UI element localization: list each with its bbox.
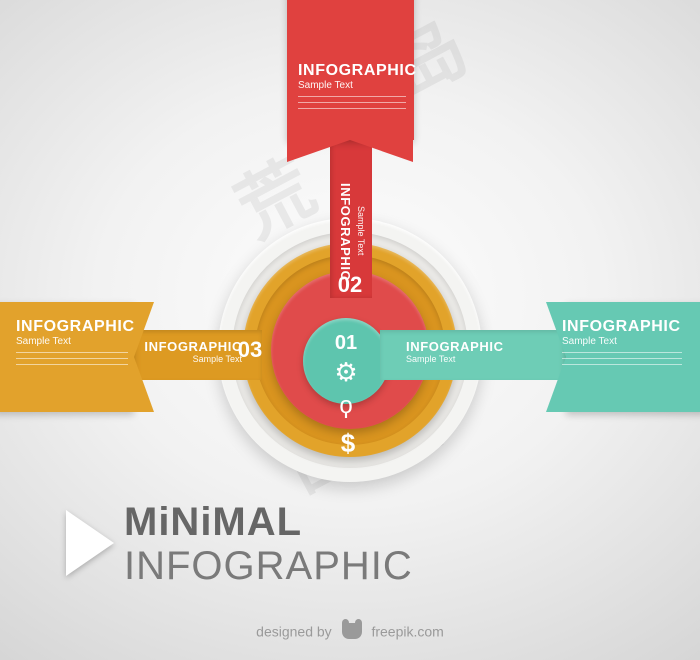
page-title-line1: MiNiMAL (124, 500, 544, 544)
connector-top-title: INFOGRAPHIC (338, 178, 353, 286)
step-number-03: 03 (228, 337, 272, 363)
step-number-02: 02 (320, 272, 380, 298)
credit-line: designed by freepik.com (0, 622, 700, 639)
banner-left-title: INFOGRAPHIC (16, 318, 128, 336)
dollar-icon: $ (332, 428, 364, 459)
credit-prefix: designed by (256, 623, 332, 639)
banner-right-subtitle: Sample Text (562, 336, 682, 347)
connector-left-title: INFOGRAPHIC (142, 339, 242, 354)
page-title: MiNiMAL INFOGRAPHIC (124, 500, 544, 588)
banner-right-label: INFOGRAPHIC Sample Text (562, 318, 682, 370)
connector-top-subtitle: Sample Text (356, 196, 366, 266)
gears-icon: ⚙ (325, 357, 367, 388)
banner-right-title: INFOGRAPHIC (562, 318, 682, 336)
connector-right-subtitle: Sample Text (406, 354, 526, 364)
banner-top-title: INFOGRAPHIC (298, 62, 406, 80)
step-number-01: 01 (316, 332, 376, 355)
banner-right-lines (562, 352, 682, 365)
banner-top-lines (298, 96, 406, 109)
banner-top-subtitle: Sample Text (298, 80, 406, 91)
banner-left-lines (16, 352, 128, 365)
lightbulb-icon: ϙ (330, 392, 362, 420)
page-title-line2: INFOGRAPHIC (124, 544, 544, 588)
infographic-canvas: 荒 岛 图 库 INFOGRAPHIC Sample Text INFOGRAP… (0, 0, 700, 660)
play-triangle-icon (66, 510, 114, 576)
connector-right-label: INFOGRAPHIC Sample Text (406, 339, 526, 364)
connector-right-title: INFOGRAPHIC (406, 339, 526, 354)
credit-brand[interactable]: freepik.com (371, 623, 443, 639)
connector-left-label: INFOGRAPHIC Sample Text (142, 339, 242, 364)
banner-top-label: INFOGRAPHIC Sample Text (298, 62, 406, 114)
connector-left-subtitle: Sample Text (142, 354, 242, 364)
banner-left-label: INFOGRAPHIC Sample Text (16, 318, 128, 370)
freepik-logo-icon (342, 623, 362, 639)
banner-left-subtitle: Sample Text (16, 336, 128, 347)
